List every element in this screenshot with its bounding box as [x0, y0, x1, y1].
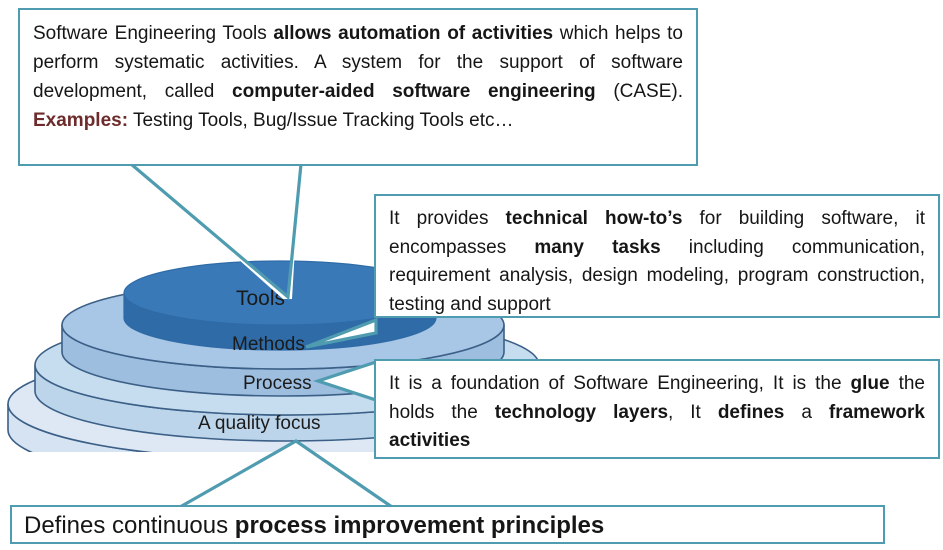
methods-callout-text: It provides technical how-to’s for build…	[389, 205, 925, 319]
process-callout-tail	[318, 362, 376, 400]
methods-callout: It provides technical how-to’s for build…	[374, 194, 940, 318]
tools-callout: Software Engineering Tools allows automa…	[18, 8, 698, 166]
tools-callout-tail-stroke	[131, 164, 301, 297]
diagram-canvas: Tools Methods Process A quality focus So…	[0, 0, 943, 550]
quality-callout-text: Defines continuous process improvement p…	[24, 510, 871, 542]
tools-callout-text: Software Engineering Tools allows automa…	[33, 20, 683, 136]
quality-callout-tail	[180, 441, 392, 507]
quality-callout: Defines continuous process improvement p…	[10, 505, 885, 544]
methods-callout-tail	[306, 320, 376, 347]
process-callout-text: It is a foundation of Software Engineeri…	[389, 370, 925, 456]
process-callout: It is a foundation of Software Engineeri…	[374, 359, 940, 459]
